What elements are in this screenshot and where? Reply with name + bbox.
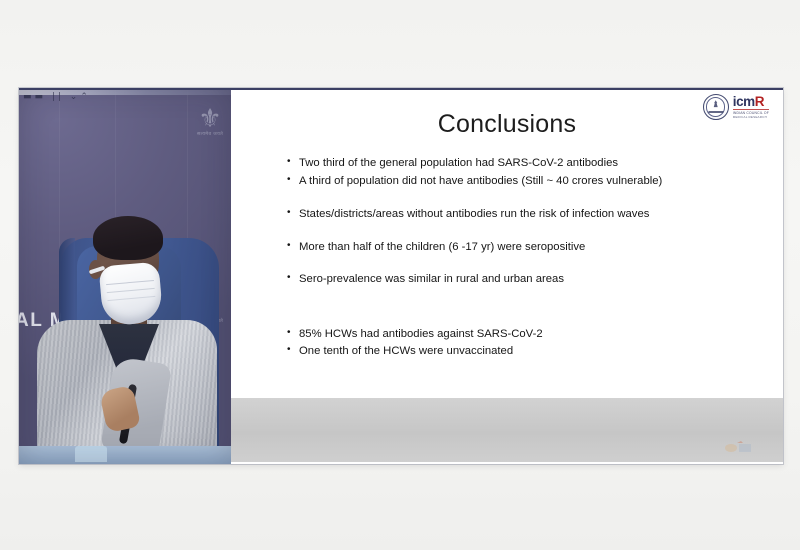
desk-object [75,446,107,462]
footer-watermark-icon [719,440,759,456]
screenshot-root: ⚜सत्यमेव जयते ⚜सत्यमेव जयते ⚜ AL MED R [0,0,800,550]
icmr-prefix: icm [733,94,755,109]
slide-footer-band [231,398,783,462]
national-emblem-watermark: ⚜सत्यमेव जयते [197,106,223,138]
list-item: More than half of the children (6 -17 yr… [287,240,769,256]
list-item: Sero-prevalence was similar in rural and… [287,272,769,288]
slide-footer-rule [231,459,783,462]
shared-screen-frame: ⚜सत्यमेव जयते ⚜सत्यमेव जयते ⚜ AL MED R [19,88,783,464]
desk [19,446,231,464]
emblem-caption: सत्यमेव जयते [197,133,223,138]
list-item: Two third of the general population had … [287,156,769,172]
list-item: A third of population did not have antib… [287,174,769,190]
presentation-slide[interactable]: icmR INDIAN COUNCIL OF MEDICAL RESEARCH … [231,88,783,464]
list-item: 85% HCWs had antibodies against SARS-CoV… [287,327,769,343]
speaker-video-tile[interactable]: ⚜सत्यमेव जयते ⚜सत्यमेव जयते ⚜ AL MED R [19,88,231,464]
list-item: States/districts/areas without antibodie… [287,207,769,223]
icmr-accent-letter: R [755,94,764,109]
icmr-wordmark-text: icmR [733,95,769,109]
list-item: One tenth of the HCWs were unvaccinated [287,344,769,360]
slide-bullet-list: Two third of the general population had … [287,154,769,360]
slide-canvas: icmR INDIAN COUNCIL OF MEDICAL RESEARCH … [231,90,783,398]
speaker-hair [93,216,163,260]
slide-title: Conclusions [231,110,783,139]
video-overlay-glyphs: ▬▬ || ⌄⌃ [23,92,91,102]
